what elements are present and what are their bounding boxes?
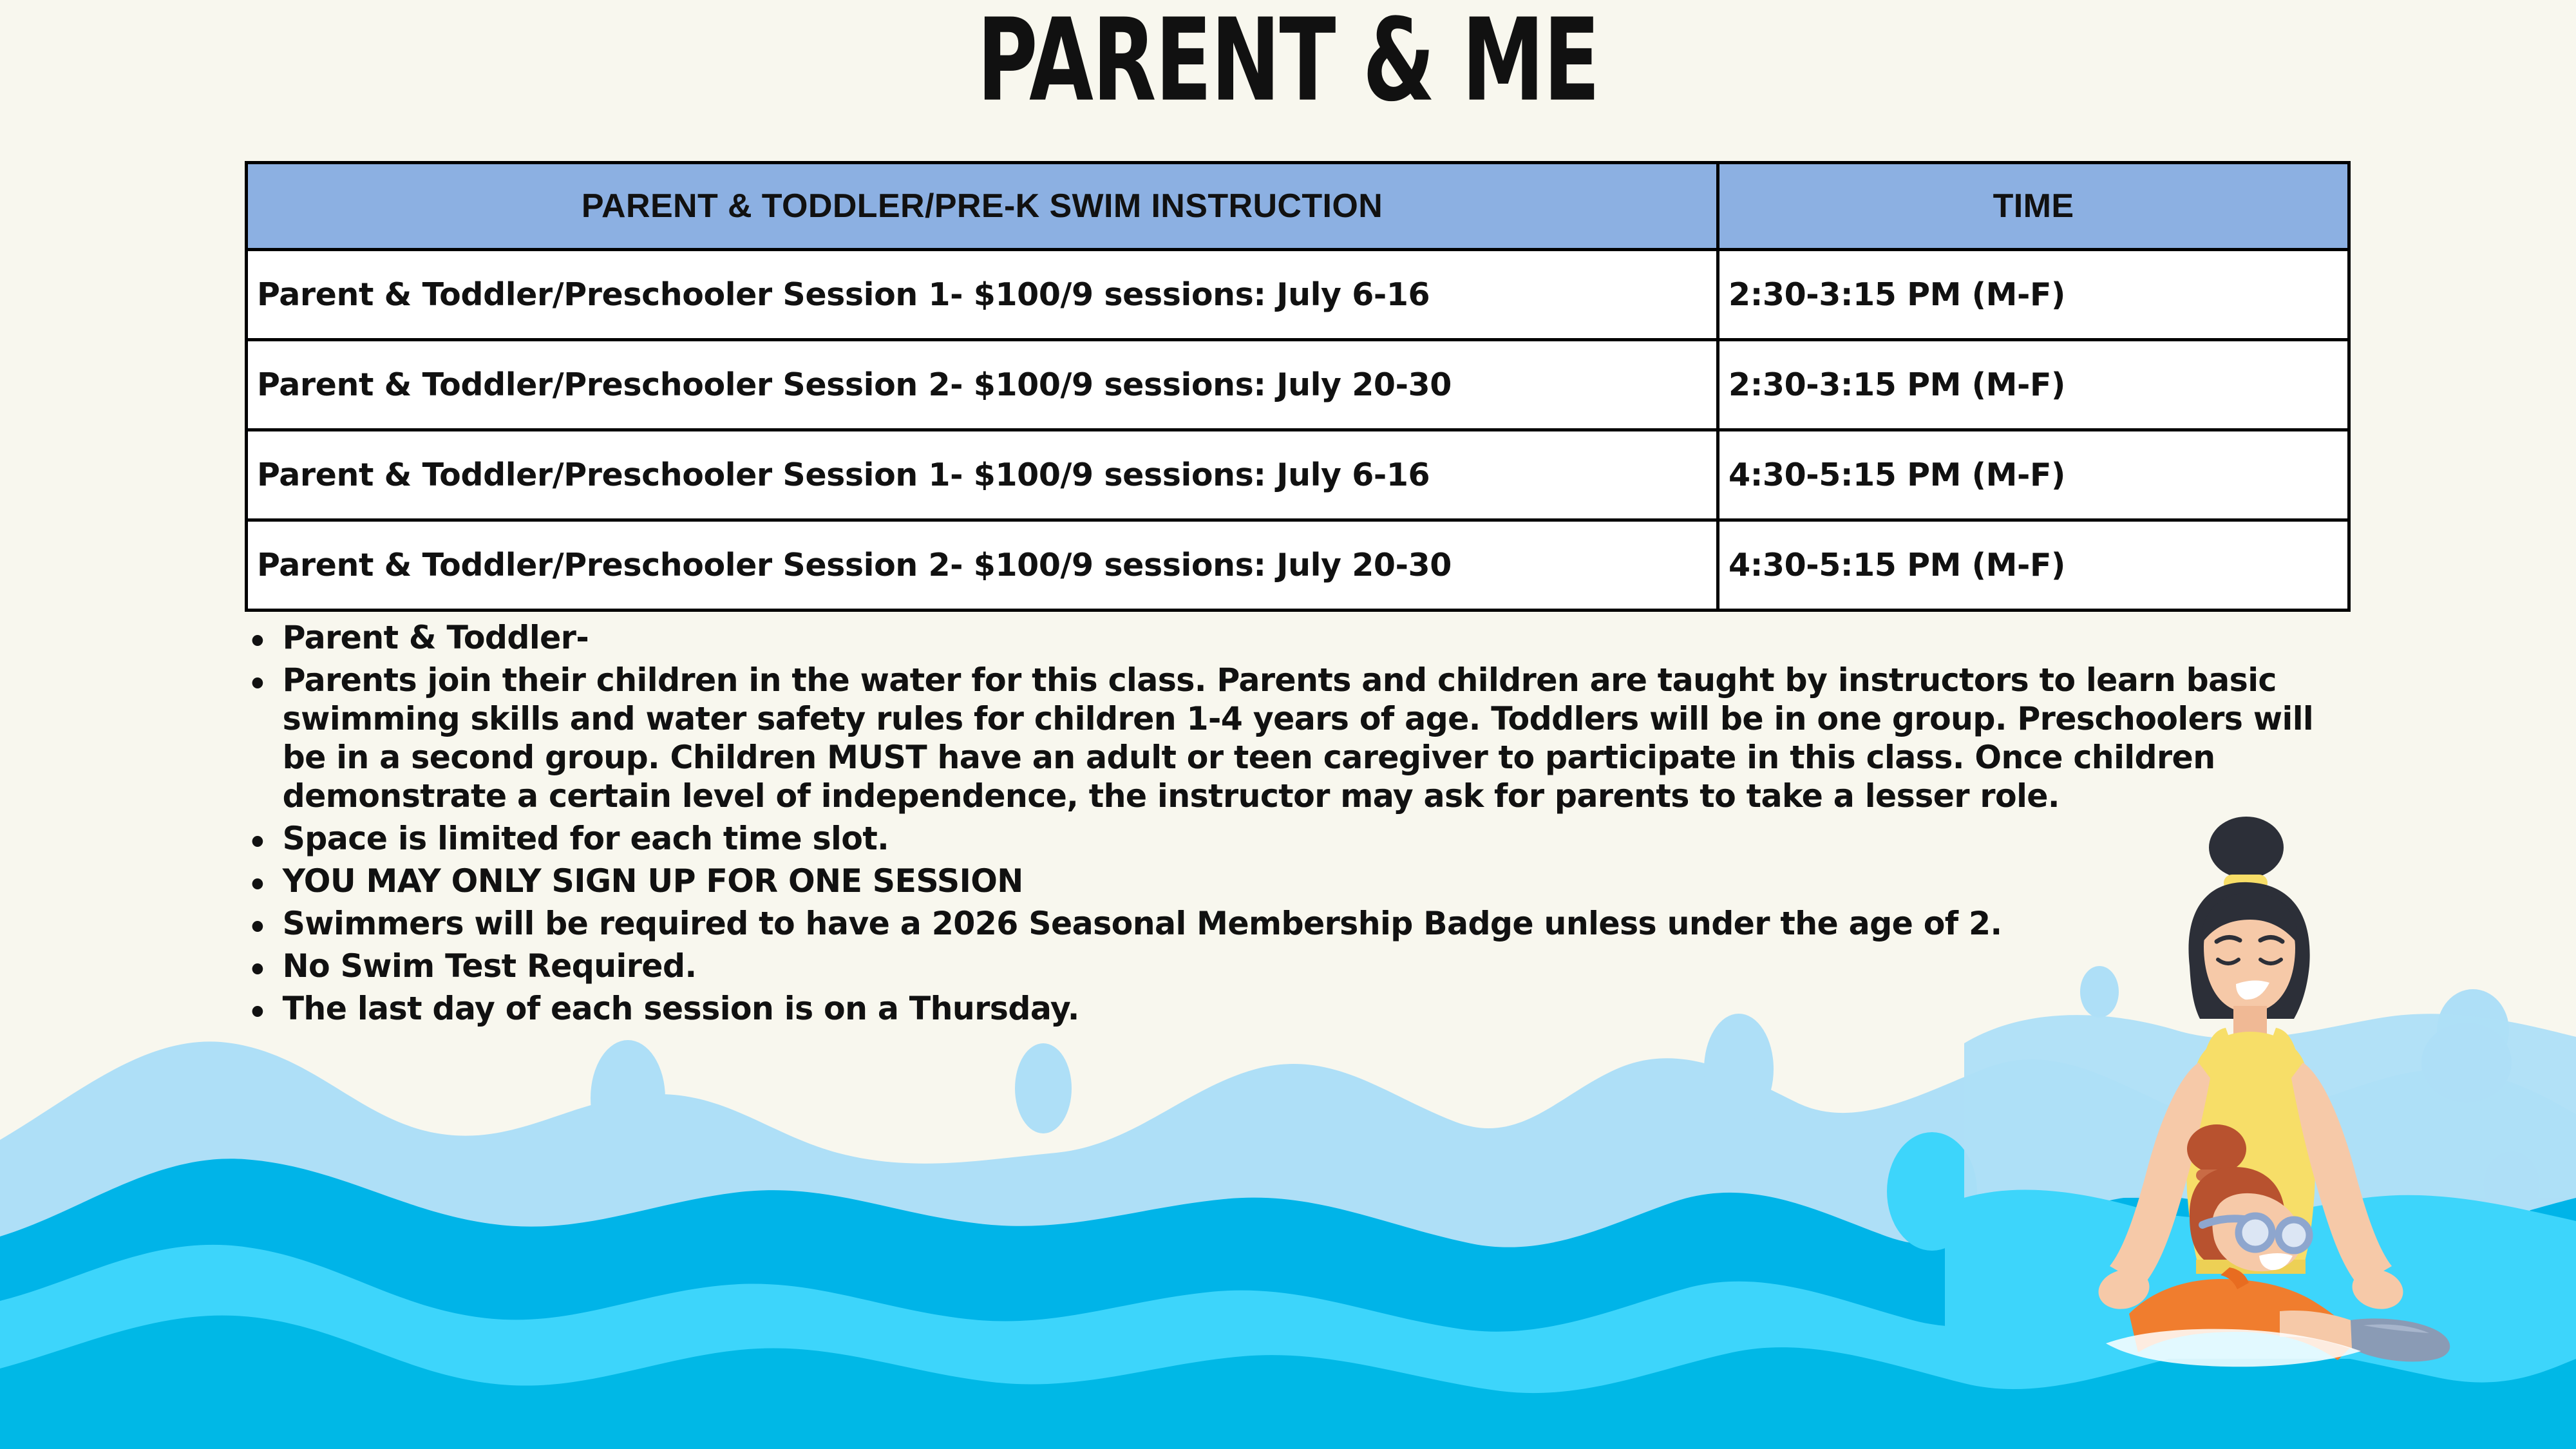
arm-left bbox=[2110, 1063, 2210, 1285]
swimsuit bbox=[2186, 1032, 2315, 1273]
column-header-time: TIME bbox=[1718, 163, 2349, 250]
table-header-row: PARENT & TODDLER/PRE-K SWIM INSTRUCTION … bbox=[247, 163, 2349, 250]
cell-course: Parent & Toddler/Preschooler Session 2- … bbox=[247, 520, 1718, 611]
table-row: Parent & Toddler/Preschooler Session 2- … bbox=[247, 520, 2349, 611]
list-item: YOU MAY ONLY SIGN UP FOR ONE SESSION bbox=[238, 862, 2321, 900]
column-header-course: PARENT & TODDLER/PRE-K SWIM INSTRUCTION bbox=[247, 163, 1718, 250]
bubble-pale-4 bbox=[2437, 989, 2509, 1072]
list-item: No Swim Test Required. bbox=[238, 947, 2321, 985]
cell-time: 2:30-3:15 PM (M-F) bbox=[1718, 340, 2349, 430]
swimsuit-strap-left bbox=[2204, 1028, 2231, 1066]
notes-list: Parent & Toddler- Parents join their chi… bbox=[238, 618, 2363, 1032]
list-item: The last day of each session is on a Thu… bbox=[238, 989, 2321, 1028]
table-row: Parent & Toddler/Preschooler Session 1- … bbox=[247, 430, 2349, 520]
wave-layer-pale bbox=[0, 1041, 2576, 1449]
schedule-table: PARENT & TODDLER/PRE-K SWIM INSTRUCTION … bbox=[245, 161, 2351, 612]
child-hair-tie bbox=[2196, 1170, 2236, 1181]
table-body: Parent & Toddler/Preschooler Session 1- … bbox=[247, 250, 2349, 611]
cell-course: Parent & Toddler/Preschooler Session 2- … bbox=[247, 340, 1718, 430]
page-title: PARENT & ME bbox=[180, 4, 2396, 118]
bubble-pale-2 bbox=[591, 1040, 665, 1156]
table-row: Parent & Toddler/Preschooler Session 1- … bbox=[247, 250, 2349, 340]
child-face bbox=[2212, 1193, 2302, 1271]
table-row: Parent & Toddler/Preschooler Session 2- … bbox=[247, 340, 2349, 430]
list-item: Parents join their children in the water… bbox=[238, 661, 2321, 815]
goggle-lens-left bbox=[2239, 1216, 2272, 1249]
bubble-right-2 bbox=[2483, 1151, 2540, 1218]
cell-time: 4:30-5:15 PM (M-F) bbox=[1718, 520, 2349, 611]
child-swimsuit bbox=[2129, 1279, 2358, 1360]
child-arm bbox=[2280, 1311, 2361, 1350]
bubble-right-3 bbox=[2240, 1215, 2307, 1271]
water-foam bbox=[2106, 1329, 2361, 1367]
kickboard-highlight bbox=[2363, 1325, 2429, 1334]
hand-right bbox=[2348, 1264, 2407, 1314]
child-shoulder-strap bbox=[2221, 1267, 2249, 1289]
list-item: Space is limited for each time slot. bbox=[238, 819, 2321, 858]
bubble-mid-1 bbox=[1887, 1132, 1977, 1251]
wave-layer-deep bbox=[0, 1316, 2576, 1449]
arm-right bbox=[2291, 1063, 2392, 1285]
goggles-strap bbox=[2202, 1218, 2249, 1225]
cell-time: 4:30-5:15 PM (M-F) bbox=[1718, 430, 2349, 520]
child-head bbox=[2190, 1167, 2285, 1260]
kickboard bbox=[2351, 1318, 2450, 1361]
cell-course: Parent & Toddler/Preschooler Session 1- … bbox=[247, 250, 1718, 340]
schedule-table-container: PARENT & TODDLER/PRE-K SWIM INSTRUCTION … bbox=[245, 161, 2347, 612]
cell-time: 2:30-3:15 PM (M-F) bbox=[1718, 250, 2349, 340]
hand-left bbox=[2094, 1264, 2154, 1314]
swimsuit-hem bbox=[2196, 1260, 2306, 1274]
wave-right-mid bbox=[1945, 1189, 2576, 1359]
wave-layer-mid bbox=[0, 1159, 2576, 1449]
bubble-right-1 bbox=[2421, 1023, 2512, 1103]
table-head: PARENT & TODDLER/PRE-K SWIM INSTRUCTION … bbox=[247, 163, 2349, 250]
child-hair-bun-icon bbox=[2187, 1124, 2246, 1173]
list-item: Swimmers will be required to have a 2026… bbox=[238, 904, 2321, 943]
cell-course: Parent & Toddler/Preschooler Session 1- … bbox=[247, 430, 1718, 520]
child-mouth-smile bbox=[2259, 1253, 2293, 1270]
list-item: Parent & Toddler- bbox=[238, 618, 2321, 657]
goggle-lens-right bbox=[2278, 1220, 2309, 1251]
wave-pool-right bbox=[1964, 1014, 2576, 1198]
swimsuit-strap-right bbox=[2271, 1028, 2298, 1066]
wave-layer-bright bbox=[0, 1245, 2576, 1449]
bubble-pale-3 bbox=[1015, 1043, 1072, 1133]
